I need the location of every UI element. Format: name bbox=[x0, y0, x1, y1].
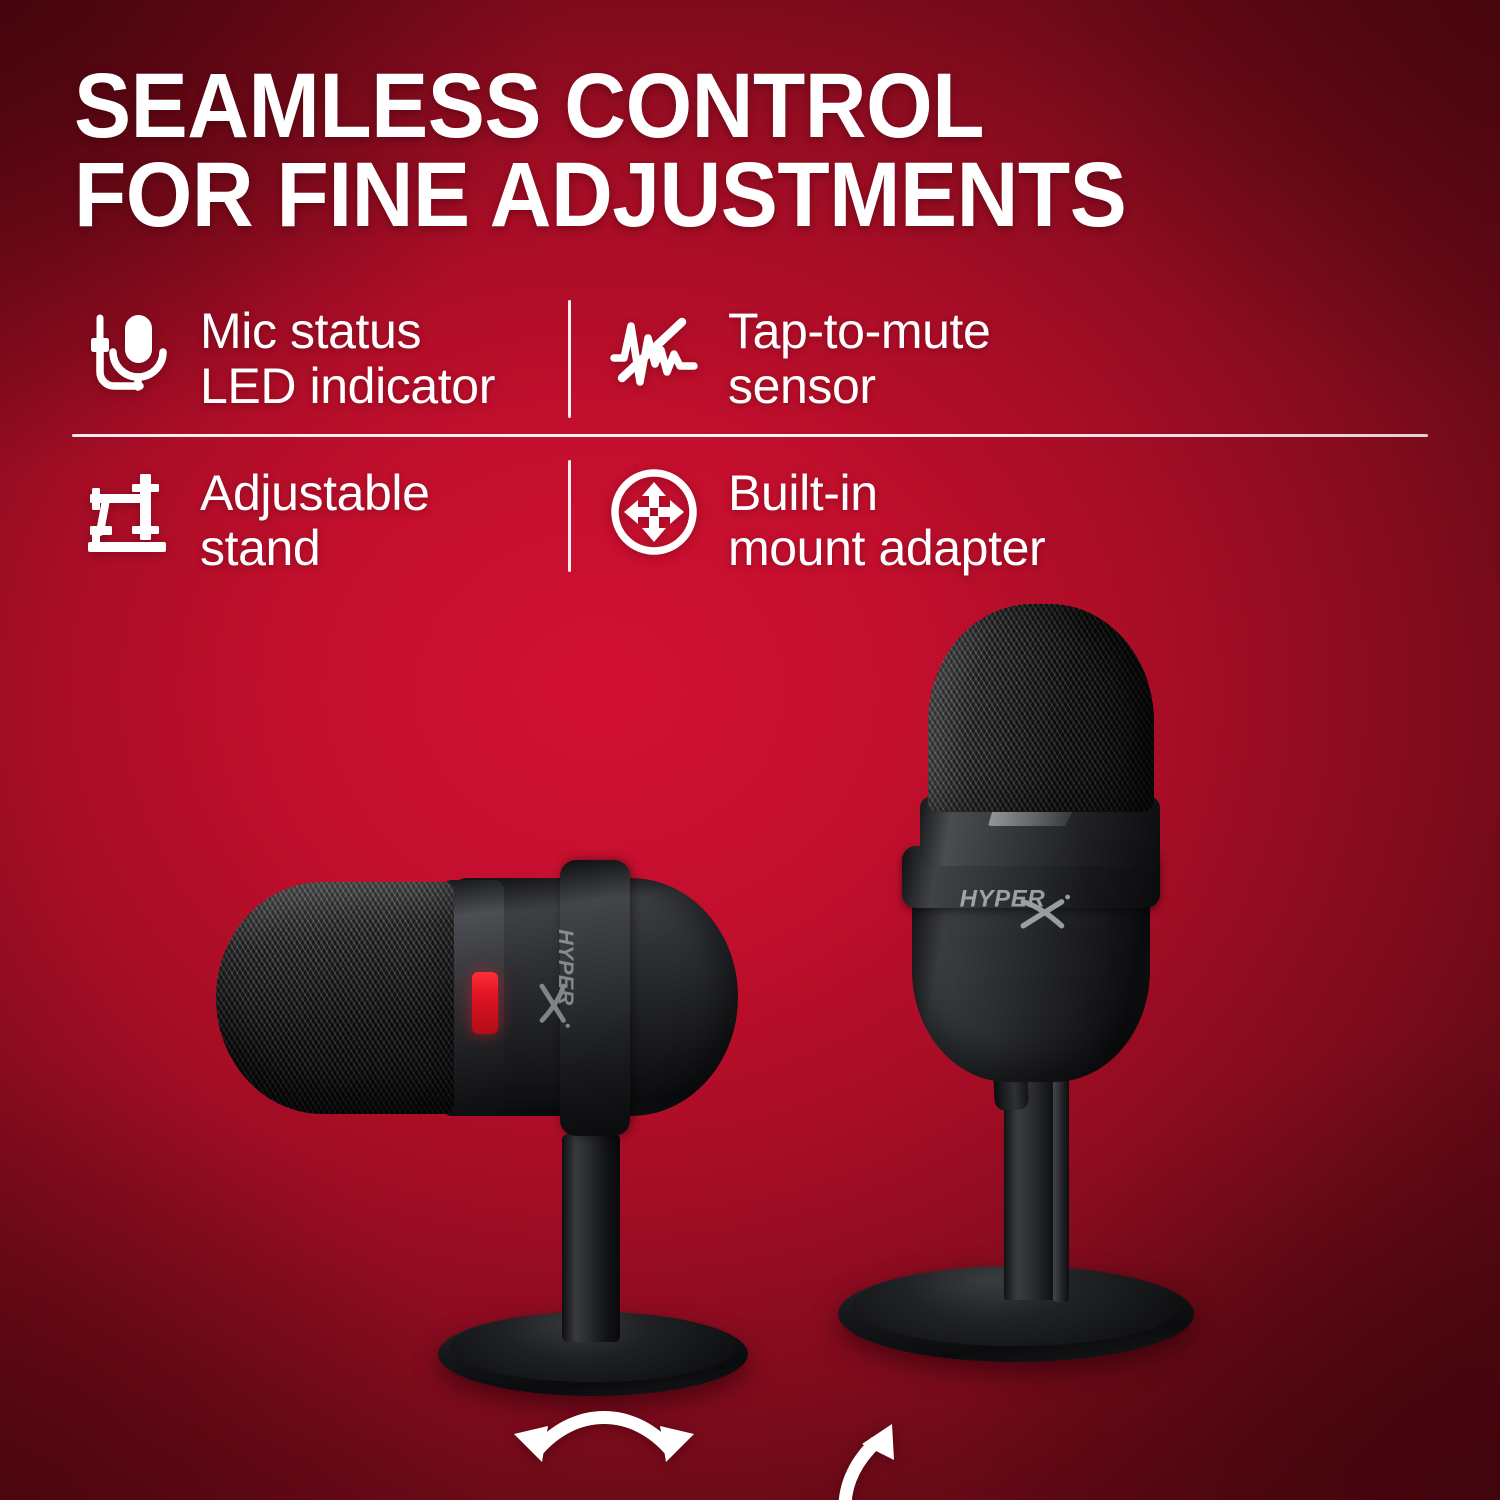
tap-to-mute-waveform-icon bbox=[602, 298, 706, 402]
feature-divider-vertical-bottom bbox=[568, 460, 571, 572]
vertical-tilt-arrow bbox=[818, 1408, 910, 1500]
feature-list: Mic status LED indicator Tap-to-mute sen… bbox=[72, 288, 1428, 588]
feature-item-tap-to-mute: Tap-to-mute sensor bbox=[602, 298, 990, 414]
feature-label-adjustable-stand: Adjustable stand bbox=[200, 460, 430, 576]
feature-item-adjustable-stand: Adjustable stand bbox=[74, 460, 430, 576]
feature-item-mount-adapter: Built-in mount adapter bbox=[602, 460, 1045, 576]
feature-label-mount-adapter: Built-in mount adapter bbox=[728, 460, 1045, 576]
promo-canvas: SEAMLESS CONTROL FOR FINE ADJUSTMENTS Mi… bbox=[0, 0, 1500, 1500]
left-mic-stand-post bbox=[562, 1134, 620, 1342]
product-photo-area: HYPER HYPER bbox=[0, 560, 1500, 1500]
page-title: SEAMLESS CONTROL FOR FINE ADJUSTMENTS bbox=[74, 62, 1357, 240]
left-microphone: HYPER bbox=[0, 560, 1500, 1500]
mount-adapter-arrows-icon bbox=[602, 460, 706, 564]
feature-label-mic-status-led: Mic status LED indicator bbox=[200, 298, 495, 414]
horizontal-tilt-arrow bbox=[498, 1388, 710, 1474]
feature-divider-vertical-top bbox=[568, 300, 571, 418]
mic-status-led-icon bbox=[74, 298, 178, 402]
left-mic-led-indicator bbox=[472, 972, 498, 1034]
left-mic-grille bbox=[216, 882, 454, 1114]
left-mic-hyperx-logo: HYPER bbox=[530, 926, 584, 1044]
feature-label-tap-to-mute: Tap-to-mute sensor bbox=[728, 298, 990, 414]
adjustable-stand-icon bbox=[74, 460, 178, 564]
feature-item-mic-status-led: Mic status LED indicator bbox=[74, 298, 495, 414]
left-mic-grille-shading bbox=[216, 882, 454, 1114]
feature-divider-horizontal bbox=[72, 434, 1428, 437]
